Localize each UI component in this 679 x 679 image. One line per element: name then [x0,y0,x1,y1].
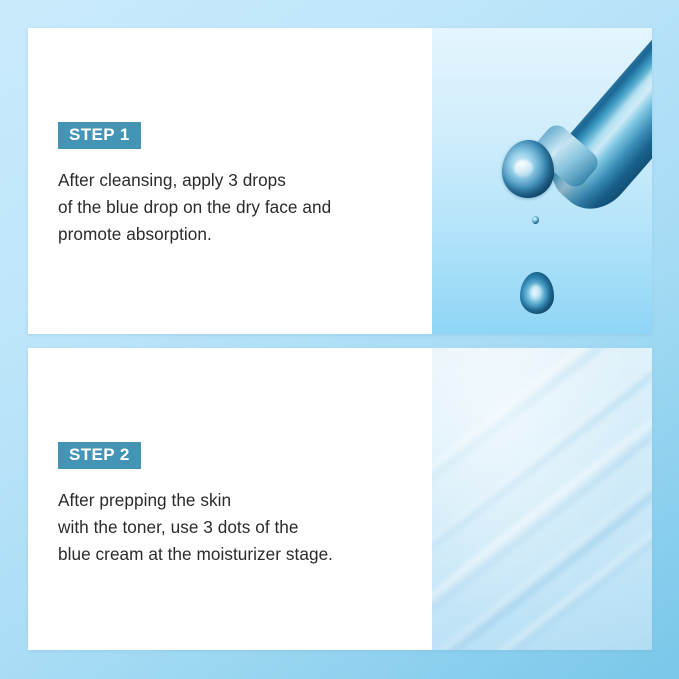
step-1-text-panel: STEP 1 After cleansing, apply 3 drops of… [28,28,432,334]
step-2-body-text: After prepping the skin with the toner, … [58,487,422,568]
blue-cream-texture-image [432,348,652,650]
dropper-pipette-image [432,28,652,334]
step-1-badge: STEP 1 [58,122,141,149]
step-card-2: STEP 2 After prepping the skin with the … [28,348,652,650]
instruction-steps-page: STEP 1 After cleansing, apply 3 drops of… [0,0,679,679]
step-1-body-text: After cleansing, apply 3 drops of the bl… [58,167,422,248]
large-droplet-shape [520,272,554,314]
step-card-1: STEP 1 After cleansing, apply 3 drops of… [28,28,652,334]
step-2-text-panel: STEP 2 After prepping the skin with the … [28,348,432,650]
pipette-tip-droplet-shape [502,140,554,198]
cream-sheen-overlay [432,348,652,650]
small-droplet-shape [532,216,539,224]
step-2-badge: STEP 2 [58,442,141,469]
